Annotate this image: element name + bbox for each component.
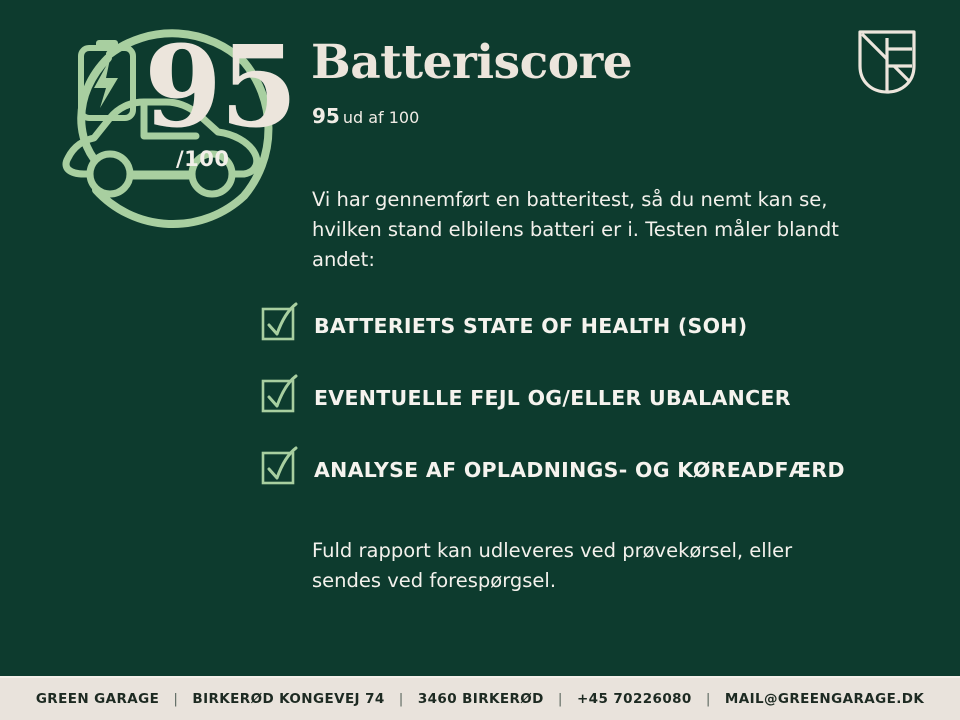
footer-separator: | [549, 691, 572, 707]
list-item: BATTERIETS STATE OF HEALTH (SOH) [258, 306, 878, 346]
list-item: EVENTUELLE FEJL OG/ELLER UBALANCER [258, 378, 878, 418]
footer-address: BIRKERØD KONGEVEJ 74 [192, 691, 384, 707]
checklist-item-label: BATTERIETS STATE OF HEALTH (SOH) [314, 314, 747, 338]
score-number: 95 [144, 32, 296, 144]
footer-separator: | [697, 691, 720, 707]
checkbox-checked-icon [258, 306, 298, 346]
score-badge-illustration: 95 /100 [48, 18, 288, 246]
checklist-item-label: ANALYSE AF OPLADNINGS- OG KØREADFÆRD [314, 458, 845, 482]
footer-phone[interactable]: +45 70226080 [577, 691, 692, 707]
checkbox-checked-icon [258, 450, 298, 490]
subtitle-score: 95 [312, 104, 340, 128]
footer-company: GREEN GARAGE [36, 691, 159, 707]
subtitle-rest: ud af 100 [343, 108, 419, 127]
batteriscore-infographic: 95 /100 Batteriscore 95ud af 100 Vi har … [0, 0, 960, 720]
shield-leaf-icon [856, 28, 918, 96]
footer-bar: GREEN GARAGE | BIRKERØD KONGEVEJ 74 | 34… [0, 676, 960, 720]
score-denominator: /100 [176, 147, 230, 171]
intro-paragraph: Vi har gennemført en batteritest, så du … [312, 185, 842, 275]
footer-contact-line: GREEN GARAGE | BIRKERØD KONGEVEJ 74 | 34… [36, 691, 924, 707]
checklist: BATTERIETS STATE OF HEALTH (SOH) EVENTUE… [258, 306, 878, 490]
footer-separator: | [390, 691, 413, 707]
page-title: Batteriscore [311, 38, 632, 87]
footer-email[interactable]: MAIL@GREENGARAGE.DK [725, 691, 924, 707]
checkbox-checked-icon [258, 378, 298, 418]
score-subtitle: 95ud af 100 [312, 104, 419, 128]
green-garage-shield-logo [856, 28, 918, 96]
footer-postal-city: 3460 BIRKERØD [418, 691, 544, 707]
outro-paragraph: Fuld rapport kan udleveres ved prøvekørs… [312, 536, 842, 596]
footer-separator: | [164, 691, 187, 707]
checklist-item-label: EVENTUELLE FEJL OG/ELLER UBALANCER [314, 386, 791, 410]
list-item: ANALYSE AF OPLADNINGS- OG KØREADFÆRD [258, 450, 878, 490]
